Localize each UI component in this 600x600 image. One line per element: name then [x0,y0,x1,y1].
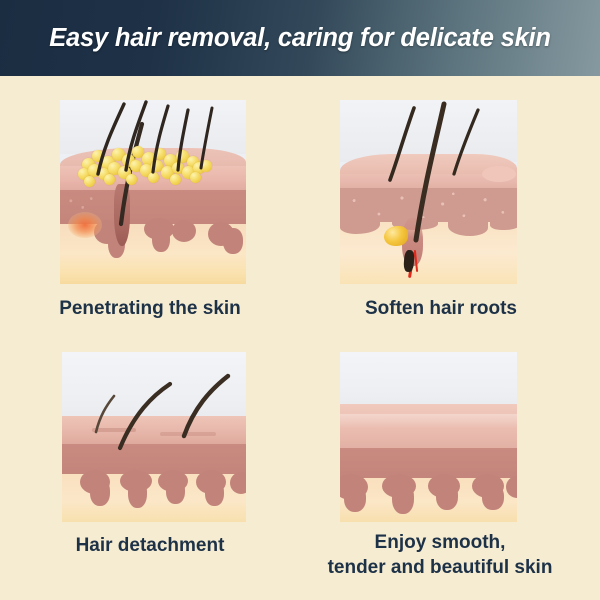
papilla [344,484,366,512]
papilla [482,484,504,510]
skin-diagram-soften-roots [340,100,517,284]
promo-page: Easy hair removal, caring for delicate s… [0,0,600,600]
skin-diagram-penetrating [60,100,246,284]
step-3-caption: Hair detachment [20,533,280,558]
step-1-illustration [60,100,246,284]
detached-hair-group [62,352,246,522]
step-3-illustration [62,352,246,522]
skin-highlight [340,414,517,428]
step-4-caption: Enjoy smooth, tender and beautiful skin [312,530,568,580]
hair-group [340,100,517,284]
papilla [436,482,458,510]
page-title: Easy hair removal, caring for delicate s… [49,24,551,53]
skin-diagram-detachment [62,352,246,522]
skin-diagram-smooth [340,352,517,522]
header-banner: Easy hair removal, caring for delicate s… [0,0,600,76]
hair-group [60,100,246,284]
air-layer [340,352,517,408]
step-2-caption: Soften hair roots [316,296,566,321]
step-4-illustration [340,352,517,522]
papilla [392,482,414,514]
step-1-caption: Penetrating the skin [20,296,280,321]
step-2-illustration [340,100,517,284]
